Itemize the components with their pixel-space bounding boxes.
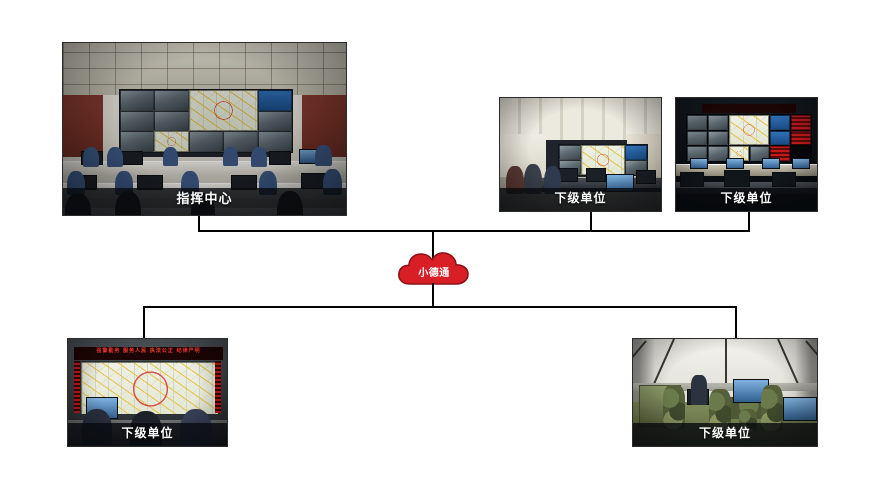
node-subordinate-unit-2[interactable]: 下级单位: [675, 97, 818, 212]
unit-2-led-banner: [702, 104, 796, 113]
network-cloud[interactable]: 小德通: [396, 251, 472, 287]
node-subordinate-unit-3-label: 下级单位: [68, 423, 227, 446]
connector-cloud-to-bottom-bus: [432, 283, 434, 307]
node-subordinate-unit-1-label: 下级单位: [500, 188, 661, 211]
connector-subordinate-unit-4-drop: [735, 306, 737, 339]
connector-bottom-bus: [143, 306, 737, 308]
connector-subordinate-unit-3-drop: [143, 306, 145, 339]
node-command-center-label: 指挥中心: [63, 188, 346, 215]
node-subordinate-unit-4-label: 下级单位: [633, 423, 817, 446]
node-subordinate-unit-2-label: 下级单位: [676, 188, 817, 211]
connector-subordinate-unit-2-drop: [748, 211, 750, 232]
unit-3-led-banner: 强警勤务 服务人民 执法公正 纪律严明: [74, 347, 223, 360]
node-subordinate-unit-3[interactable]: 强警勤务 服务人民 执法公正 纪律严明 下级单位: [67, 338, 228, 447]
topology-diagram: 小德通: [0, 0, 895, 486]
connector-top-bus: [198, 230, 750, 232]
node-command-center[interactable]: 指挥中心: [62, 42, 347, 216]
connector-subordinate-unit-1-drop: [590, 211, 592, 232]
node-subordinate-unit-4[interactable]: 下级单位: [632, 338, 818, 447]
node-subordinate-unit-1[interactable]: 下级单位: [499, 97, 662, 212]
